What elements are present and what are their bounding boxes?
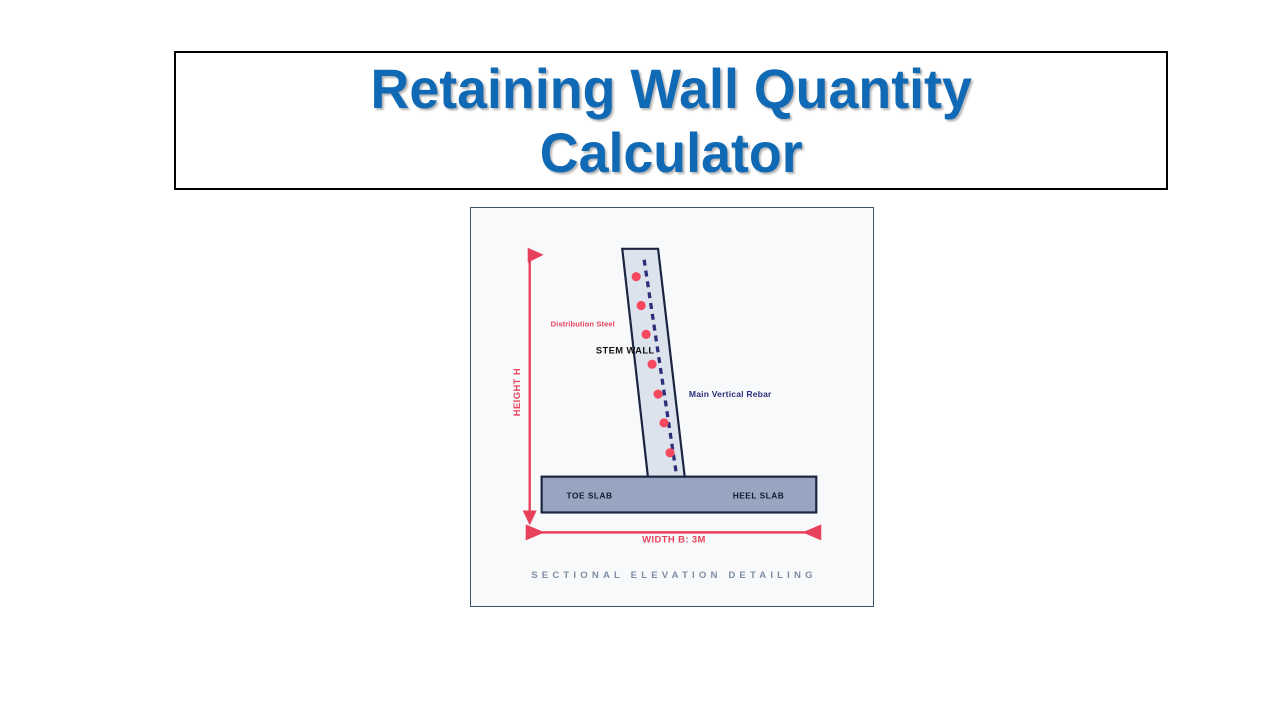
distribution-steel-dot	[653, 389, 662, 398]
toe-slab-label: TOE SLAB	[567, 491, 613, 501]
heel-slab-label: HEEL SLAB	[733, 491, 785, 501]
stem-wall-label: STEM WALL	[596, 345, 655, 355]
main-vertical-rebar-label: Main Vertical Rebar	[689, 389, 772, 399]
width-arrow-right-icon	[802, 524, 821, 540]
distribution-steel-label: Distribution Steel	[551, 319, 615, 328]
sectional-elevation-diagram: HEIGHT H TOE SLAB HEEL SLAB	[471, 208, 873, 606]
height-dimension-group: HEIGHT H	[512, 248, 544, 526]
width-dimension-group: WIDTH B: 3M	[526, 524, 822, 545]
width-label: WIDTH B: 3M	[642, 534, 706, 545]
title-banner: Retaining Wall Quantity Calculator	[174, 51, 1168, 190]
page-title: Retaining Wall Quantity Calculator	[351, 57, 991, 184]
height-arrow-bottom-icon	[523, 510, 537, 525]
height-label: HEIGHT H	[512, 368, 523, 416]
distribution-steel-dot	[648, 360, 657, 369]
retaining-wall-diagram-card: HEIGHT H TOE SLAB HEEL SLAB	[470, 207, 874, 607]
diagram-caption: SECTIONAL ELEVATION DETAILING	[531, 570, 816, 581]
distribution-steel-dot	[659, 418, 668, 427]
width-arrow-left-icon	[526, 524, 545, 540]
distribution-steel-dot	[637, 301, 646, 310]
base-slab-group: TOE SLAB HEEL SLAB	[542, 477, 817, 513]
distribution-steel-dot	[642, 330, 651, 339]
height-arrow-top-icon	[528, 248, 544, 263]
distribution-steel-dot	[665, 448, 674, 457]
distribution-steel-dot	[632, 272, 641, 281]
